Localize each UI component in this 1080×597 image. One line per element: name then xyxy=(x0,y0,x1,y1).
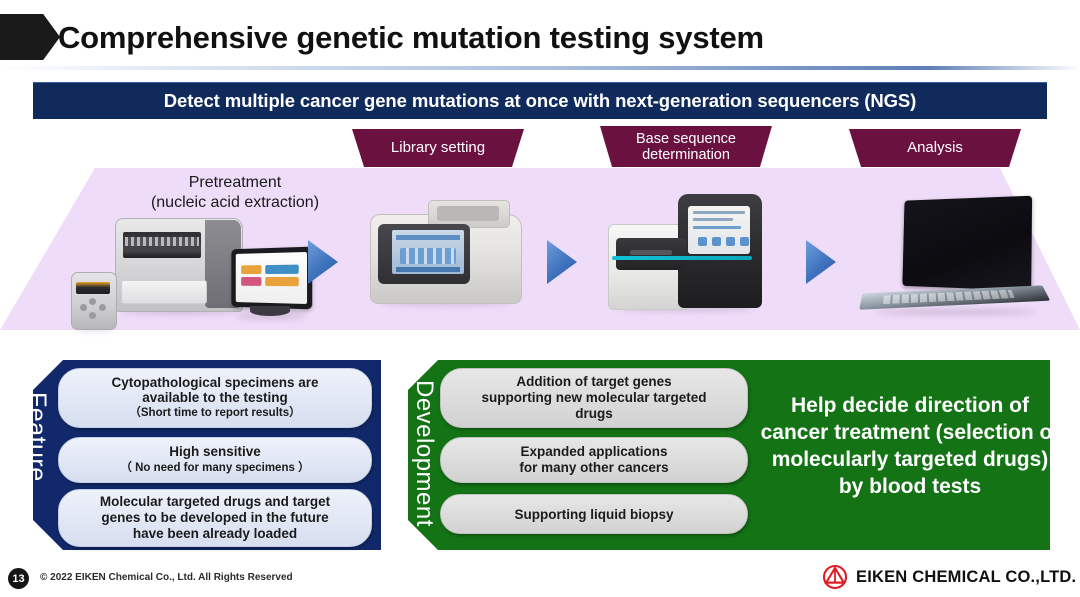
development-item-2-line2: for many other cancers xyxy=(519,460,668,476)
copyright-text: © 2022 EIKEN Chemical Co., Ltd. All Righ… xyxy=(40,572,293,583)
feature-item-2: High sensitive （ No need for many specim… xyxy=(58,437,372,483)
development-vertical-label: Development xyxy=(410,380,438,527)
step-label-text-line2: determination xyxy=(642,147,730,163)
pretreatment-label-line1: Pretreatment xyxy=(100,173,370,193)
thermal-cycler-image xyxy=(370,200,522,306)
feature-vertical-label: Feature xyxy=(22,392,51,482)
development-item-3-line1: Supporting liquid biopsy xyxy=(515,507,674,522)
development-item-2: Expanded applications for many other can… xyxy=(440,437,748,483)
step-label-analysis: Analysis xyxy=(849,129,1021,167)
feature-item-1-sub: （Short time to report results） xyxy=(129,406,300,422)
eiken-emblem-icon xyxy=(822,564,848,590)
step-label-base-sequence-determination: Base sequence determination xyxy=(600,126,772,167)
analysis-laptop-image xyxy=(862,198,1058,316)
feature-item-3-line1: Molecular targeted drugs and target xyxy=(100,494,330,510)
feature-item-3-line3: have been already loaded xyxy=(133,526,297,542)
step-label-text: Library setting xyxy=(391,140,485,156)
company-name: EIKEN CHEMICAL CO.,LTD. xyxy=(856,568,1076,587)
step-label-library-setting: Library setting xyxy=(352,129,524,167)
company-logo: EIKEN CHEMICAL CO.,LTD. xyxy=(822,564,1076,590)
pentagon-arrow-icon xyxy=(0,14,60,60)
control-tablet-image xyxy=(228,248,318,320)
feature-item-3: Molecular targeted drugs and target gene… xyxy=(58,489,372,547)
slide-canvas: Comprehensive genetic mutation testing s… xyxy=(0,0,1080,597)
development-item-1-line3: drugs xyxy=(575,406,613,422)
nucleic-acid-extractor-image xyxy=(115,218,243,314)
next-generation-sequencer-image xyxy=(608,190,764,312)
pretreatment-label: Pretreatment (nucleic acid extraction) xyxy=(100,173,370,213)
feature-item-2-line1: High sensitive xyxy=(169,444,261,460)
mini-centrifuge-image xyxy=(71,272,117,332)
development-item-1-line1: Addition of target genes xyxy=(516,374,671,390)
headline-banner: Detect multiple cancer gene mutations at… xyxy=(33,82,1047,119)
page-title: Comprehensive genetic mutation testing s… xyxy=(58,16,1018,60)
step-label-text-line1: Base sequence xyxy=(636,131,736,147)
feature-item-3-line2: genes to be developed in the future xyxy=(101,510,328,526)
feature-item-1-line1: Cytopathological specimens are xyxy=(111,375,318,391)
step-label-text: Analysis xyxy=(907,140,963,156)
development-item-2-line1: Expanded applications xyxy=(520,444,667,460)
feature-item-1-line2: available to the testing xyxy=(142,390,288,406)
development-item-1-line2: supporting new molecular targeted xyxy=(481,390,706,406)
header-divider xyxy=(0,66,1080,70)
headline-banner-text: Detect multiple cancer gene mutations at… xyxy=(164,90,916,112)
feature-item-1: Cytopathological specimens are available… xyxy=(58,368,372,428)
development-item-3: Supporting liquid biopsy xyxy=(440,494,748,534)
pretreatment-label-line2: (nucleic acid extraction) xyxy=(100,193,370,213)
page-number-badge: 13 xyxy=(8,568,29,589)
development-message: Help decide direction of cancer treatmen… xyxy=(760,392,1060,500)
development-item-1: Addition of target genes supporting new … xyxy=(440,368,748,428)
feature-item-2-sub: （ No need for many specimens ） xyxy=(120,460,309,476)
